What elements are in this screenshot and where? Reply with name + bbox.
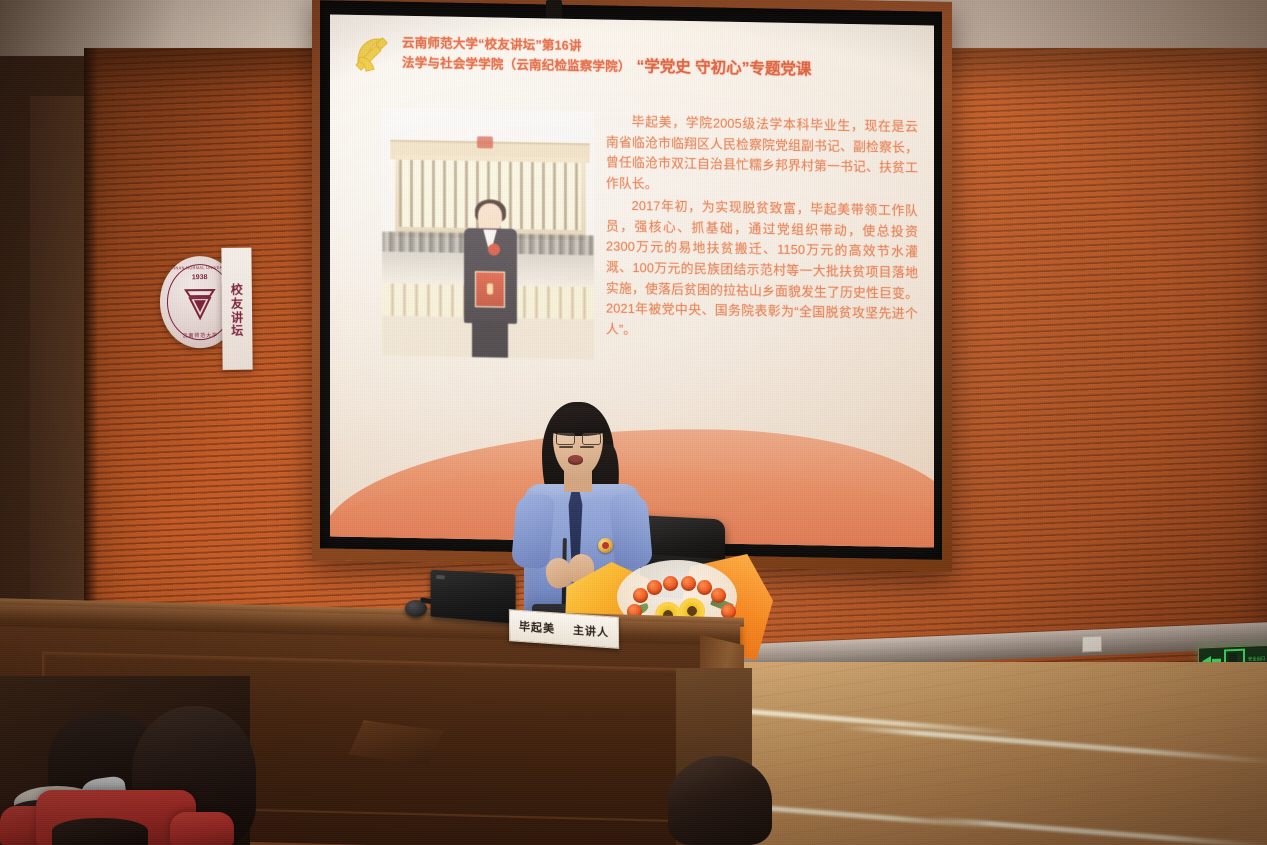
slide-title-main: “学党史 守初心”专题党课 xyxy=(637,54,812,79)
slide-paragraph-1: 毕起美，学院2005级法学本科毕业生，现在是云南省临沧市临翔区人民检察院党组副书… xyxy=(606,112,918,201)
banner-char-4: 坛 xyxy=(231,325,243,338)
slide-title-line-2: 法学与社会学学院（云南纪检监察学院） xyxy=(402,52,631,75)
speaker-sleeve-left xyxy=(511,492,555,569)
photo-awardee xyxy=(463,203,518,358)
alumni-forum-banner: 校 友 讲 坛 xyxy=(221,248,252,370)
seal-mark-icon xyxy=(182,284,218,322)
auditorium-seat xyxy=(170,812,234,845)
nameplate-role: 主讲人 xyxy=(573,622,609,641)
national-emblem-icon xyxy=(477,136,493,148)
slide-title-row: 云南师范大学“校友讲坛”第16讲 法学与社会学学院（云南纪检监察学院） “学党史… xyxy=(348,29,918,87)
slide-award-photo xyxy=(382,107,594,359)
cpc-hammer-sickle-emblem-icon xyxy=(348,31,394,78)
audience-head xyxy=(52,818,148,845)
university-emblem-group: YUNNAN NORMAL UNIVERSITY 1938 云南师范大学 校 友… xyxy=(159,247,264,366)
audience-head xyxy=(668,756,772,845)
banner-char-1: 校 xyxy=(231,284,243,297)
wall-corner-shadow xyxy=(84,48,98,688)
banner-char-2: 友 xyxy=(231,298,243,311)
eyeglasses-icon xyxy=(556,433,600,443)
lecture-hall-photo: 安全出口 YUNNAN NORMAL UNIVERSITY 1938 云南师范大… xyxy=(0,0,1267,845)
red-rosette-icon xyxy=(488,244,500,256)
laptop-logo-icon xyxy=(436,575,445,579)
side-wall-left-panel xyxy=(30,96,90,676)
slide-paragraph-2: 2017年初，为实现脱贫致富，毕起美带领工作队员，强核心、抓基础，通过党组织带动… xyxy=(606,195,918,346)
award-certificate-icon xyxy=(475,271,506,307)
speaker-mouth xyxy=(568,455,583,465)
nameplate-name: 毕起美 xyxy=(519,618,555,637)
slide-body-text: 毕起美，学院2005级法学本科毕业生，现在是云南省临沧市临翔区人民检察院党组副书… xyxy=(606,112,918,348)
wall-outlet-icon xyxy=(1082,636,1102,653)
laptop-computer[interactable] xyxy=(431,570,516,624)
banner-char-3: 讲 xyxy=(231,311,243,324)
